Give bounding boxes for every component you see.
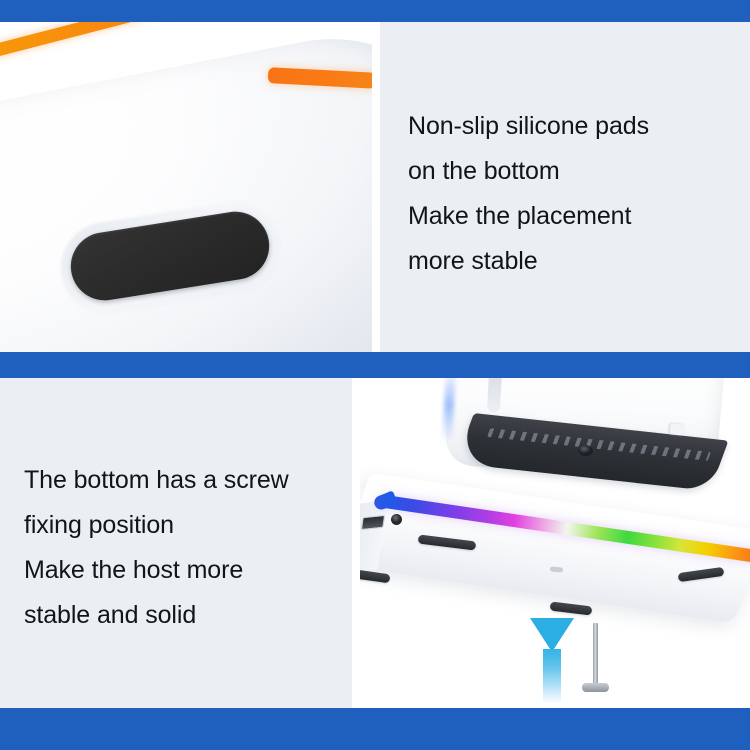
usb-port <box>361 515 385 530</box>
bottom-text-line-1: The bottom has a screw <box>24 458 289 503</box>
upward-arrow-icon <box>530 618 574 704</box>
top-text-line-1: Non-slip silicone pads <box>408 104 649 149</box>
console-side-tab <box>670 423 685 435</box>
top-half-section: Non-slip silicone pads on the bottom Mak… <box>0 22 750 352</box>
product-infographic: Non-slip silicone pads on the bottom Mak… <box>0 0 750 750</box>
top-text-line-2: on the bottom <box>408 149 649 194</box>
stand-silicone-pad-front-center <box>550 601 593 615</box>
bottom-text-line-3: Make the host more <box>24 548 289 593</box>
bottom-text-panel: The bottom has a screw fixing position M… <box>0 378 352 708</box>
top-text-line-3: Make the placement <box>408 194 649 239</box>
bottom-text-line-2: fixing position <box>24 503 289 548</box>
screw-head <box>582 683 609 692</box>
top-product-photo-panel <box>0 22 372 352</box>
arrow-shaft <box>543 649 561 704</box>
console-vertical-notch <box>487 378 502 412</box>
top-feature-text: Non-slip silicone pads on the bottom Mak… <box>408 104 649 284</box>
middle-blue-divider-band <box>0 352 750 378</box>
bottom-feature-text: The bottom has a screw fixing position M… <box>24 458 289 638</box>
top-text-line-4: more stable <box>408 239 649 284</box>
bottom-text-line-4: stable and solid <box>24 593 289 638</box>
bottom-blue-band <box>0 708 750 750</box>
bottom-product-photo-panel <box>360 378 750 708</box>
bottom-half-section: The bottom has a screw fixing position M… <box>0 378 750 708</box>
top-blue-band <box>0 0 750 22</box>
top-text-panel: Non-slip silicone pads on the bottom Mak… <box>380 22 750 352</box>
arrow-head <box>530 618 574 652</box>
screw-shaft <box>593 623 598 689</box>
